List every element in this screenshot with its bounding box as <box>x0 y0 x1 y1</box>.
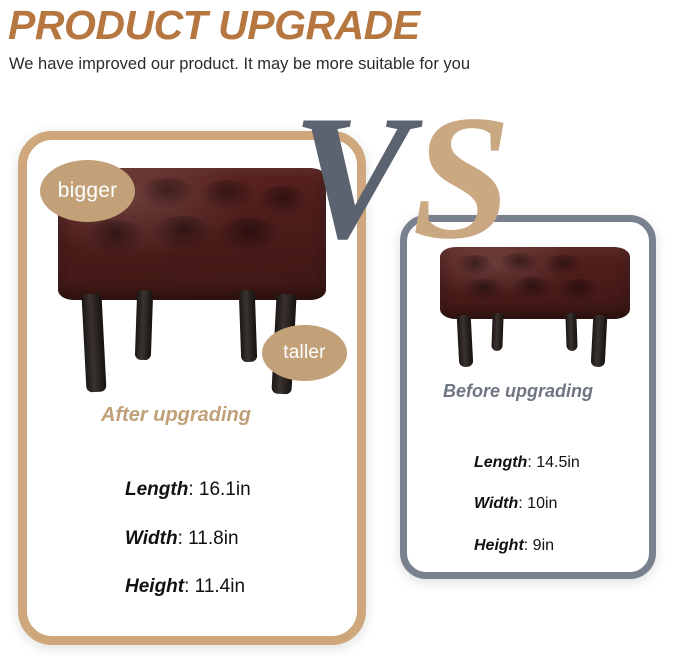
infographic-canvas: PRODUCT UPGRADE We have improved our pro… <box>0 0 679 656</box>
spec-row-height-after: Height: 11.4in <box>125 576 245 598</box>
spec-row-width-before: Width: 10in <box>474 495 557 513</box>
tuft-detail <box>154 216 212 250</box>
versus-letter-s: S <box>412 88 511 266</box>
tuft-detail <box>464 279 504 301</box>
spec-row-width-after: Width: 11.8in <box>125 528 239 550</box>
ottoman-leg-before <box>565 313 577 351</box>
spec-value: : 9in <box>524 537 554 554</box>
spec-value: : 16.1in <box>188 479 250 500</box>
tuft-detail <box>88 220 144 254</box>
spec-value: : 10in <box>518 495 557 512</box>
page-title: PRODUCT UPGRADE <box>8 2 420 48</box>
tuft-detail <box>220 218 278 252</box>
versus-graphic: V S <box>292 92 562 242</box>
tuft-detail <box>200 180 254 210</box>
spec-label: Length <box>125 479 188 500</box>
ottoman-leg-before <box>457 315 474 368</box>
tuft-detail <box>140 178 194 208</box>
spec-value: : 11.4in <box>184 576 245 597</box>
badge-taller-label: taller <box>283 342 325 364</box>
badge-bigger: bigger <box>40 160 135 222</box>
tuft-detail <box>512 277 552 299</box>
ottoman-leg-after <box>239 290 258 363</box>
spec-label: Width <box>125 528 178 549</box>
spec-value: : 14.5in <box>527 454 579 471</box>
after-upgrading-caption: After upgrading <box>101 404 251 427</box>
ottoman-leg-before <box>491 313 503 351</box>
spec-label: Length <box>474 454 527 471</box>
spec-row-length-before: Length: 14.5in <box>474 454 580 472</box>
spec-row-length-after: Length: 16.1in <box>125 479 251 501</box>
tuft-detail <box>544 255 582 275</box>
ottoman-leg-after <box>135 290 153 361</box>
page-subtitle: We have improved our product. It may be … <box>9 53 470 75</box>
badge-taller: taller <box>262 325 347 381</box>
spec-value: : 11.8in <box>178 528 239 549</box>
ottoman-leg-after <box>81 294 106 393</box>
versus-letter-v: V <box>292 88 411 266</box>
spec-label: Width <box>474 495 518 512</box>
tuft-detail <box>558 279 598 301</box>
spec-label: Height <box>125 576 184 597</box>
spec-row-height-before: Height: 9in <box>474 537 554 555</box>
badge-bigger-label: bigger <box>58 179 118 203</box>
before-upgrading-caption: Before upgrading <box>443 381 593 402</box>
spec-label: Height <box>474 537 524 554</box>
ottoman-leg-before <box>591 315 608 368</box>
